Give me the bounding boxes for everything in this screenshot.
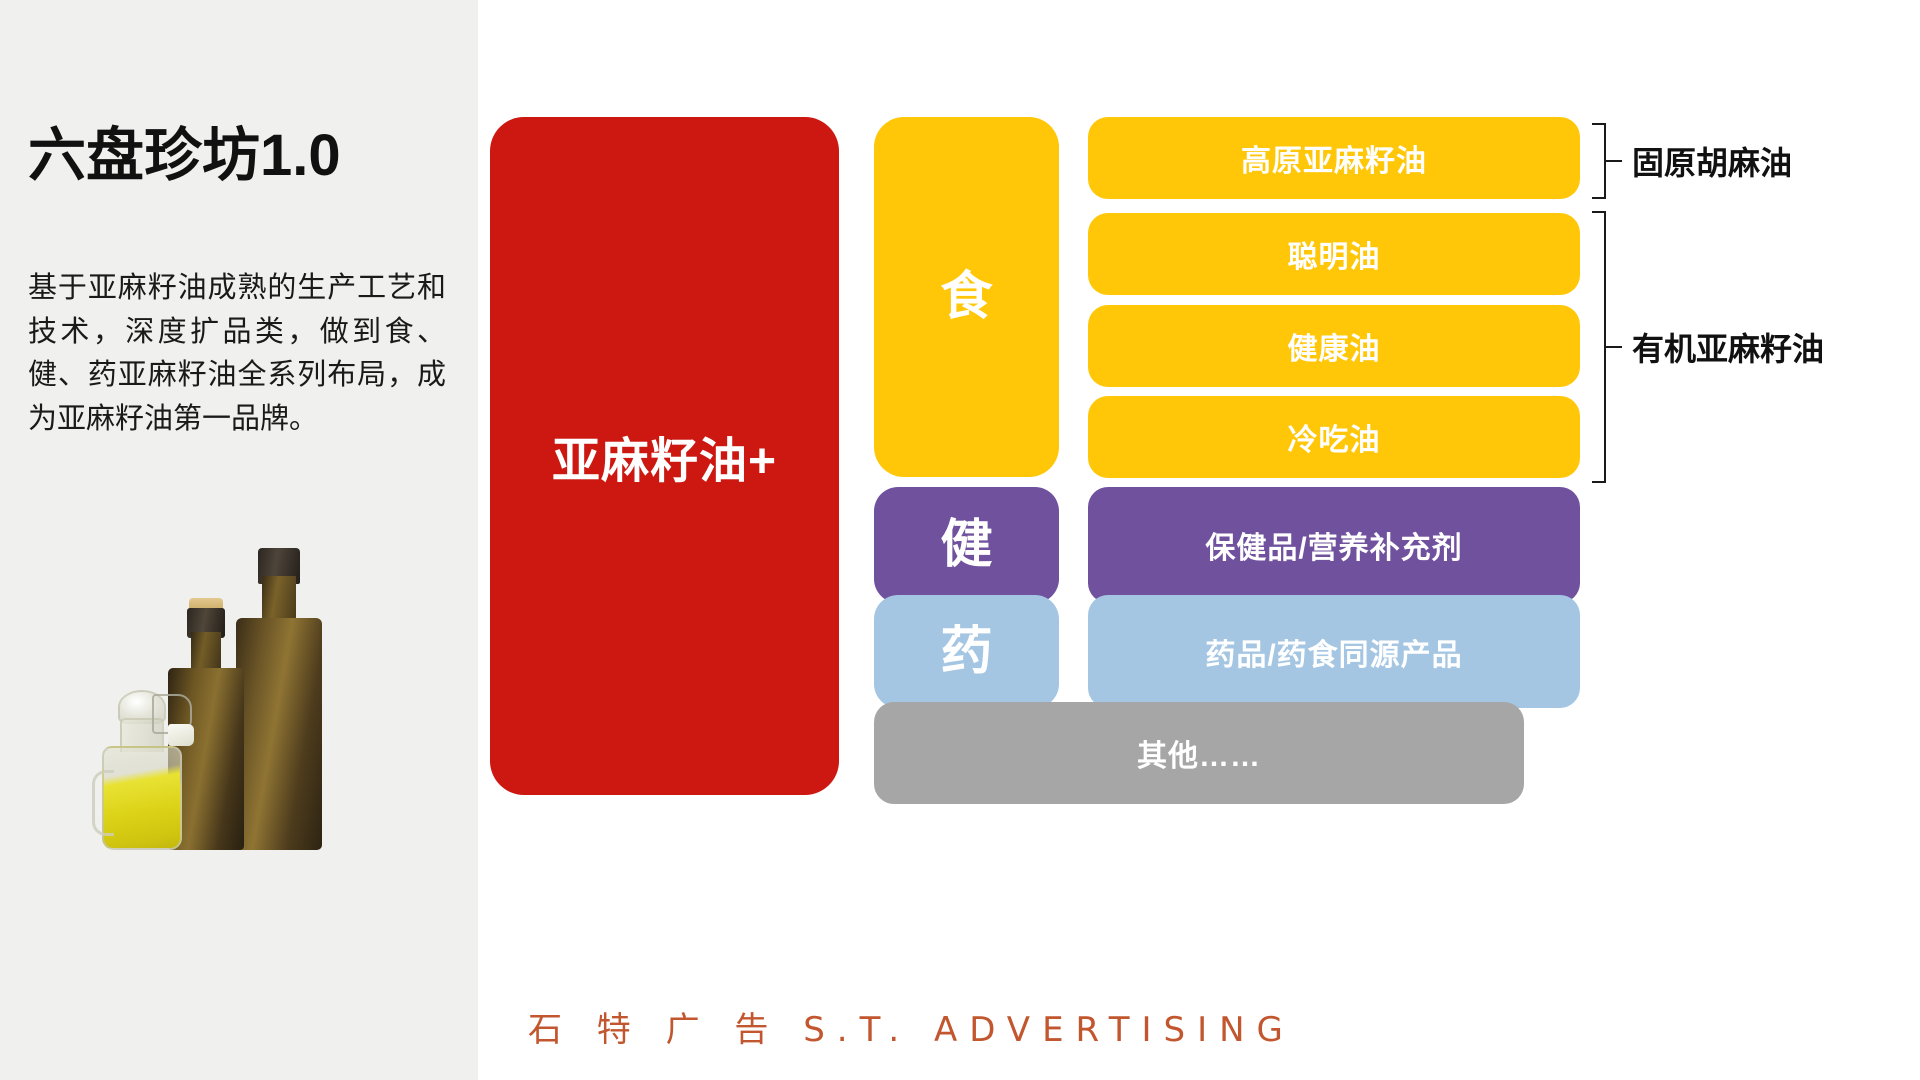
oil-bottles-image (96, 500, 366, 850)
product-box-lengchi: 冷吃油 (1088, 396, 1580, 478)
bottle-neck-icon (262, 576, 296, 622)
cruet-handle-icon (92, 770, 114, 836)
bracket-label: 固原胡麻油 (1632, 138, 1792, 184)
bracket-icon (1592, 211, 1606, 483)
cruet-clasp-tag-icon (168, 724, 194, 746)
product-box-jiankang: 健康油 (1088, 305, 1580, 387)
product-label: 健康油 (1288, 324, 1381, 368)
bracket-tick-icon (1606, 160, 1622, 162)
product-label: 药品/药食同源产品 (1205, 630, 1462, 674)
glass-oil-cruet-icon (96, 678, 188, 850)
category-label-shi: 食 (940, 271, 992, 323)
product-box-qita: 其他…… (874, 702, 1524, 804)
product-label: 高原亚麻籽油 (1241, 136, 1427, 180)
product-box-yaopin: 药品/药食同源产品 (1088, 595, 1580, 708)
category-label-yao: 药 (940, 626, 992, 678)
diagram-anchor-label: 亚麻籽油+ (552, 421, 777, 491)
product-label: 其他…… (1137, 731, 1261, 775)
bracket-label: 有机亚麻籽油 (1632, 324, 1824, 370)
category-label-jian: 健 (940, 519, 992, 571)
bracket-icon (1592, 123, 1606, 199)
product-box-baojianpin: 保健品/营养补充剂 (1088, 487, 1580, 603)
product-box-congming: 聪明油 (1088, 213, 1580, 295)
category-box-jian: 健 (874, 487, 1059, 603)
bracket-tick-icon (1606, 346, 1622, 348)
product-label: 冷吃油 (1288, 415, 1381, 459)
product-label: 保健品/营养补充剂 (1205, 523, 1462, 567)
footer-watermark: 石 特 广 告 S.T. ADVERTISING (528, 1002, 1295, 1051)
bottle-body-icon (236, 618, 322, 850)
category-box-shi: 食 (874, 117, 1059, 477)
category-box-yao: 药 (874, 595, 1059, 708)
left-info-panel: 六盘珍坊1.0 基于亚麻籽油成熟的生产工艺和技术，深度扩品类，做到食、健、药亚麻… (0, 0, 478, 1080)
bottle-neck-icon (191, 632, 221, 672)
product-label: 聪明油 (1288, 232, 1381, 276)
page-title: 六盘珍坊1.0 (28, 127, 341, 185)
product-box-gaoyuan: 高原亚麻籽油 (1088, 117, 1580, 199)
tall-dark-oil-bottle-icon (236, 550, 322, 850)
intro-paragraph: 基于亚麻籽油成熟的生产工艺和技术，深度扩品类，做到食、健、药亚麻籽油全系列布局，… (28, 267, 446, 441)
diagram-anchor-block: 亚麻籽油+ (490, 117, 839, 795)
cruet-body-icon (102, 746, 182, 850)
